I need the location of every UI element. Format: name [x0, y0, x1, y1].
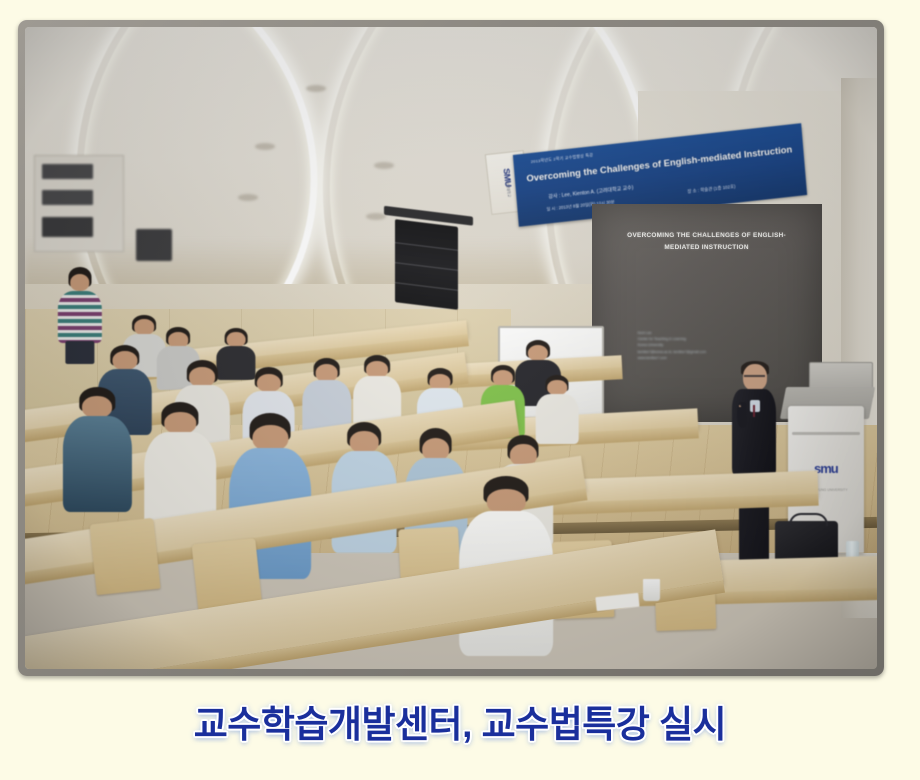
person-head	[70, 274, 89, 291]
downlight-icon	[238, 194, 258, 201]
person-head	[169, 332, 189, 348]
person-head	[528, 345, 548, 361]
person-torso	[63, 416, 131, 512]
downlight-icon	[306, 85, 326, 92]
presenter-head	[743, 364, 767, 391]
person-head	[189, 367, 215, 387]
downlight-icon	[255, 143, 275, 150]
presenter-tie	[753, 405, 756, 417]
person-legs	[65, 341, 94, 364]
slide-credits: Kent Lee Center for Teaching & Learning …	[638, 330, 799, 361]
paper-cup	[643, 579, 660, 601]
downlight-icon	[374, 162, 394, 169]
speaker-seam	[395, 241, 458, 250]
person-torso	[536, 394, 579, 445]
presenter-arm	[737, 402, 748, 428]
attendee	[536, 380, 579, 444]
attendee	[63, 396, 131, 512]
microphone-icon	[740, 404, 741, 406]
standing-attendee	[57, 274, 101, 364]
glasses-icon	[744, 375, 765, 377]
person-head	[429, 374, 450, 390]
speaker-seam	[395, 282, 458, 291]
speaker-seam	[395, 262, 458, 271]
photo-frame: SMU 상명대학교 2013학년도 2학기 교수법향상 특강 Overcomin…	[18, 20, 884, 676]
av-unit	[42, 217, 93, 238]
person-head	[134, 319, 154, 335]
projector-icon	[136, 229, 172, 261]
podium-groove	[792, 432, 859, 435]
person-torso	[57, 291, 101, 343]
slide-title: OVERCOMING THE CHALLENGES OF ENGLISH-MED…	[615, 230, 799, 254]
page-root: SMU 상명대학교 2013학년도 2학기 교수법향상 특강 Overcomin…	[0, 0, 920, 780]
page-caption: 교수학습개발센터, 교수법특강 실시	[0, 694, 920, 748]
person-head	[257, 374, 281, 392]
slide-credit-5: www.kentlee7.com	[638, 355, 799, 361]
av-equipment-rack	[34, 155, 123, 251]
chair	[90, 518, 161, 595]
lecture-hall-photo: SMU 상명대학교 2013학년도 2학기 교수법향상 특강 Overcomin…	[25, 27, 877, 669]
presenter-suit	[732, 389, 776, 477]
handout-paper	[595, 593, 639, 611]
person-head	[227, 332, 246, 347]
person-head	[315, 364, 338, 382]
av-unit	[42, 164, 93, 179]
ceiling-speaker	[395, 219, 458, 310]
person-head	[366, 361, 388, 378]
person-head	[112, 351, 137, 370]
av-unit	[42, 190, 93, 205]
